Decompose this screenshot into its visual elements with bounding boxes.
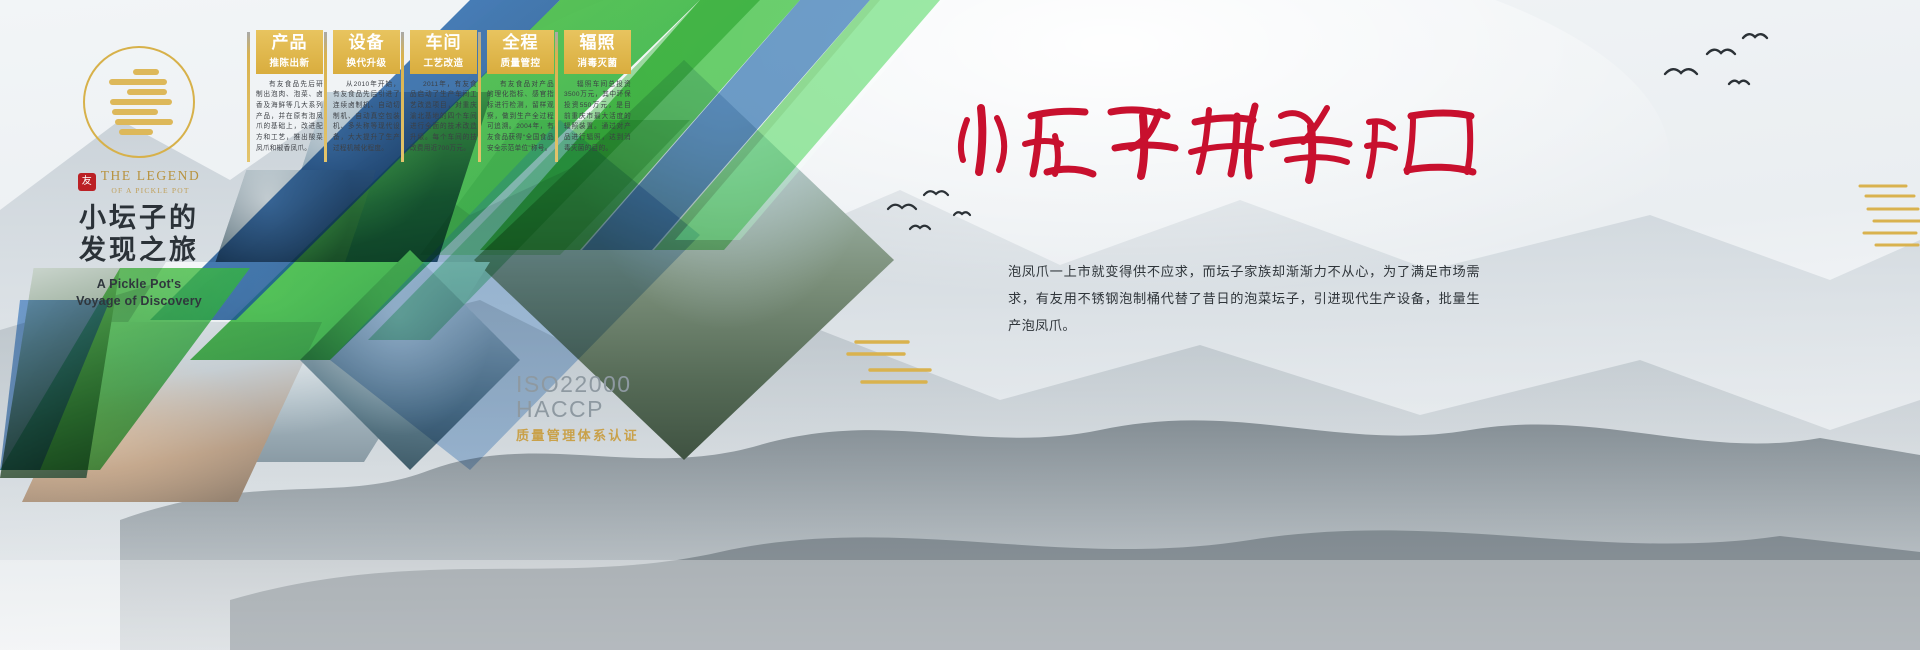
headline-paragraph: 泡凤爪一上市就变得供不应求，而坛子家族却渐渐力不从心，为了满足市场需求，有友用不… [1008, 258, 1480, 339]
card-title: 车间 [414, 34, 473, 53]
card-rail [401, 32, 404, 162]
card-title: 辐照 [568, 34, 627, 53]
cert-caption: 质量管理体系认证 [516, 425, 639, 444]
legend-lockup: 友 THE LEGEND OF A PICKLE POT [34, 168, 244, 195]
card-subtitle: 工艺改造 [414, 55, 473, 69]
card-subtitle: 质量管控 [491, 55, 550, 69]
legend-en-text: THE LEGEND [101, 168, 201, 184]
card-body: 2011年，有友食品启动了生产车间工艺改造项目，对重庆渝北基地的四个车间进行全面… [410, 80, 477, 155]
info-card[interactable]: 设备 换代升级 从2010年开始，有友食品先后引进了连续卤制机、自动切制机、自动… [333, 30, 400, 154]
brand-logo [83, 46, 195, 158]
brand-seal-icon: 友 [78, 173, 96, 191]
brand-title-en-line1: A Pickle Pot's [34, 276, 244, 293]
legend-sub-text: OF A PICKLE POT [101, 186, 201, 195]
brand-title-cn: 小坛子的 发现之旅 [34, 203, 244, 267]
card-title: 产品 [260, 34, 319, 53]
card-rail [555, 32, 558, 162]
card-header: 辐照 消毒灭菌 [564, 30, 631, 74]
info-card[interactable]: 产品 推陈出新 有友食品先后研制出泡肉、泡菜、卤香及海鲜等几大系列产品，并在原有… [256, 30, 323, 154]
card-header: 设备 换代升级 [333, 30, 400, 74]
brand-title-en: A Pickle Pot's Voyage of Discovery [34, 276, 244, 311]
card-title: 全程 [491, 34, 550, 53]
certification-block: ISO22000 HACCP 质量管理体系认证 [516, 372, 639, 444]
card-header: 全程 质量管控 [487, 30, 554, 74]
poster-canvas: 友 THE LEGEND OF A PICKLE POT 小坛子的 发现之旅 A… [0, 0, 1920, 650]
logo-bars-icon [83, 46, 195, 158]
info-card[interactable]: 辐照 消毒灭菌 辐照车间总投资3500万元，其中环保投资550万元，是目前重庆市… [564, 30, 631, 154]
card-title: 设备 [337, 34, 396, 53]
card-body: 从2010年开始，有友食品先后引进了连续卤制机、自动切制机、自动真空包装机、多头… [333, 80, 400, 155]
brand-title-cn-line1: 小坛子的 [34, 203, 244, 235]
card-body: 辐照车间总投资3500万元，其中环保投资550万元，是目前重庆市最大活度的辐照装… [564, 80, 631, 155]
card-body: 有友食品对产品的理化指标、感官指标进行检测，留样观察，做到生产全过程可追溯。20… [487, 80, 554, 155]
card-rail [478, 32, 481, 162]
info-card[interactable]: 全程 质量管控 有友食品对产品的理化指标、感官指标进行检测，留样观察，做到生产全… [487, 30, 554, 154]
info-card[interactable]: 车间 工艺改造 2011年，有友食品启动了生产车间工艺改造项目，对重庆渝北基地的… [410, 30, 477, 154]
card-subtitle: 消毒灭菌 [568, 55, 627, 69]
card-subtitle: 推陈出新 [260, 55, 319, 69]
card-rail [247, 32, 250, 162]
cert-haccp-line: HACCP [516, 397, 639, 422]
brand-block: 友 THE LEGEND OF A PICKLE POT 小坛子的 发现之旅 A… [34, 46, 244, 310]
brand-title-cn-line2: 发现之旅 [34, 235, 244, 267]
headline-strokes [955, 86, 1495, 196]
card-rail [324, 32, 327, 162]
card-header: 车间 工艺改造 [410, 30, 477, 74]
brand-title-en-line2: Voyage of Discovery [34, 293, 244, 310]
card-header: 产品 推陈出新 [256, 30, 323, 74]
headline-calligraphy [955, 86, 1495, 196]
cert-iso-line: ISO22000 [516, 372, 639, 397]
card-body: 有友食品先后研制出泡肉、泡菜、卤香及海鲜等几大系列产品，并在原有泡凤爪的基础上，… [256, 80, 323, 155]
card-subtitle: 换代升级 [337, 55, 396, 69]
info-card-row: 产品 推陈出新 有友食品先后研制出泡肉、泡菜、卤香及海鲜等几大系列产品，并在原有… [256, 30, 641, 154]
